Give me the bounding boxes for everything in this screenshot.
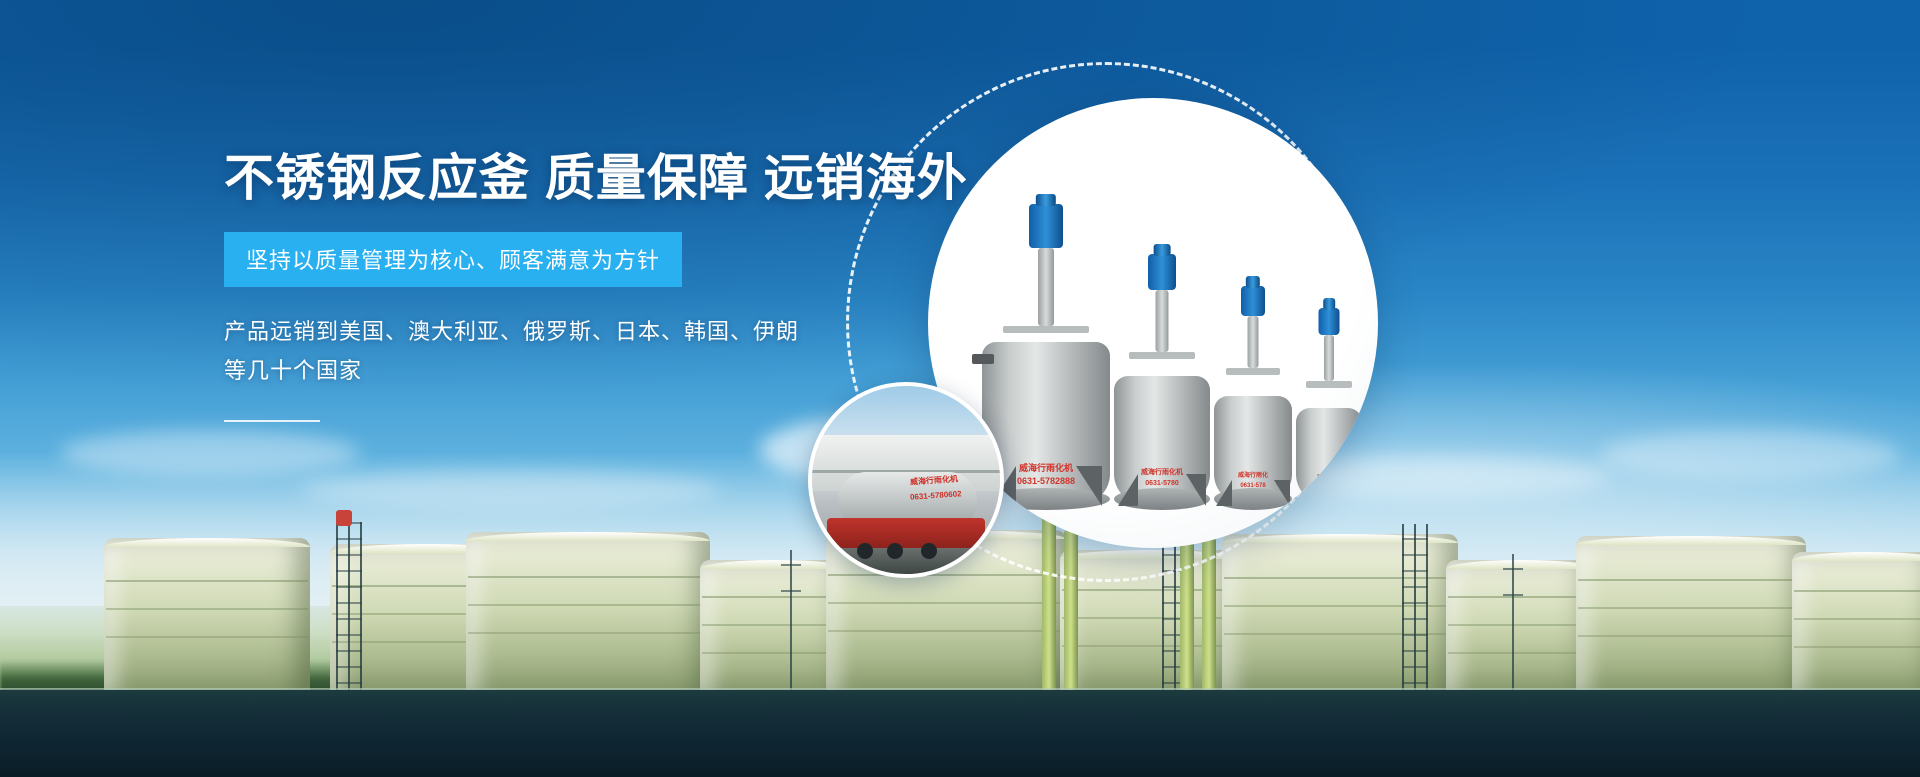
inset-wheel (921, 543, 937, 559)
hero-banner: 威海行雨化机 0631-5782888 威海行雨化机 0631-5780 威海行… (0, 0, 1920, 777)
description-paragraph: 产品远销到美国、澳大利亚、俄罗斯、日本、韩国、伊朗 等几十个国家 (224, 313, 944, 390)
reactor-phone-label: 0631-578 (1240, 483, 1265, 491)
reactor-brand-label: 威海行雨 (1317, 475, 1341, 483)
lattice-tower (1402, 524, 1428, 700)
vessel-leg (1118, 474, 1138, 506)
description-line-2: 等几十个国家 (224, 352, 944, 391)
reactor-brand-label: 威海行雨化机 (1141, 469, 1183, 478)
reactor-vessel: 威海行雨 0631-578 (1296, 308, 1362, 504)
pipe (1202, 538, 1216, 700)
accent-rule (224, 420, 320, 422)
agitator-shaft (1156, 290, 1169, 352)
lattice-tower (336, 522, 362, 700)
water-foreground (0, 690, 1920, 777)
tower-beacon (336, 510, 352, 526)
agitator-shaft (1248, 316, 1259, 368)
pylon (1512, 554, 1514, 700)
inset-wheel (857, 543, 873, 559)
tagline-ribbon: 坚持以质量管理为核心、顾客满意为方针 (224, 232, 682, 287)
inset-transport-truck (827, 518, 985, 548)
pipe (1064, 530, 1078, 700)
reactor-phone-label: 0631-5782888 (1017, 476, 1075, 487)
vessel-leg (1186, 474, 1206, 506)
agitator-motor-icon (1029, 204, 1063, 248)
cloud (300, 470, 720, 510)
reactor-phone-label: 0631-5780 (1145, 480, 1178, 489)
agitator-motor-icon (1241, 286, 1265, 316)
pipe (1042, 514, 1056, 700)
agitator-motor-icon (1148, 254, 1176, 290)
vessel-leg (1076, 466, 1102, 506)
reactor-brand-label: 威海行雨化 (1238, 473, 1268, 481)
pylon (790, 550, 792, 700)
page-title: 不锈钢反应釜 质量保障 远销海外 (224, 150, 944, 206)
hero-copy: 不锈钢反应釜 质量保障 远销海外 坚持以质量管理为核心、顾客满意为方针 产品远销… (224, 150, 944, 422)
vessel-flange (1226, 368, 1280, 375)
vessel-leg (1346, 484, 1360, 506)
vessel-leg (1216, 480, 1232, 506)
vessel-valve (972, 354, 994, 364)
reactor-phone-label: 0631-578 (1316, 484, 1341, 492)
vessel-flange (1306, 381, 1352, 388)
vessel-flange (1129, 352, 1195, 359)
cloud (60, 430, 360, 476)
reactor-vessel: 威海行雨化机 0631-5780 (1114, 254, 1210, 504)
agitator-shaft (1038, 248, 1054, 326)
vessel-leg (1274, 480, 1290, 506)
agitator-motor-icon (1319, 308, 1340, 335)
pipe (1180, 522, 1194, 700)
reactor-vessel: 威海行雨化 0631-578 (1214, 286, 1292, 504)
vessel-leg (1298, 484, 1312, 506)
cloud (1600, 430, 1900, 480)
vessel-flange (1003, 326, 1089, 333)
inset-ground (812, 544, 1000, 574)
description-line-1: 产品远销到美国、澳大利亚、俄罗斯、日本、韩国、伊朗 (224, 313, 944, 352)
reactor-brand-label: 威海行雨化机 (1019, 463, 1073, 474)
agitator-shaft (1324, 335, 1334, 381)
